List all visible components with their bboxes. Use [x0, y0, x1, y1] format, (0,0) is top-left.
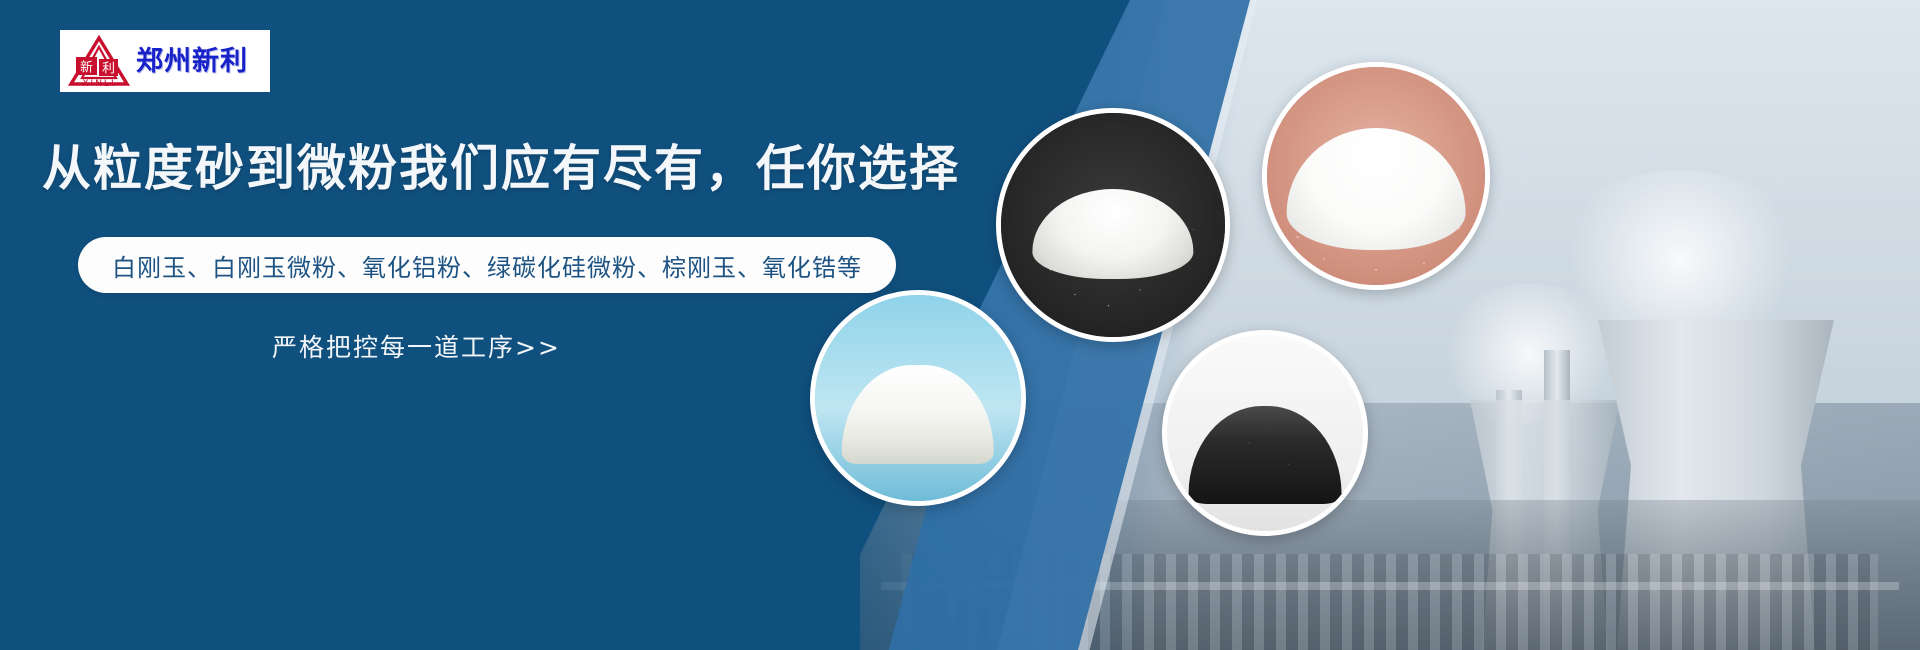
product-photo-black-silicon-carbide[interactable] [1162, 330, 1368, 536]
grit-specks [1167, 335, 1363, 531]
product-photo-alumina-micro-powder[interactable] [1262, 62, 1490, 290]
product-list-text: 白刚玉、白刚玉微粉、氧化铝粉、绿碳化硅微粉、棕刚玉、氧化锆等 [112, 248, 862, 283]
hero-banner: 新 利 XINLI 郑州新利 从粒度砂到微粉我们应有尽有，任你选择 白刚玉、白刚… [0, 0, 1920, 650]
powder-specks [1267, 67, 1485, 285]
powder-specks [1001, 113, 1225, 337]
process-tagline-link[interactable]: 严格把控每一道工序>> [272, 328, 561, 364]
svg-text:新: 新 [80, 60, 93, 76]
product-photo-white-fused-alumina[interactable] [996, 108, 1230, 342]
svg-text:XINLI: XINLI [82, 79, 115, 87]
logo-company-name: 郑州新利 [136, 48, 248, 75]
xinli-triangle-icon: 新 利 XINLI [68, 35, 130, 87]
product-list-pill[interactable]: 白刚玉、白刚玉微粉、氧化铝粉、绿碳化硅微粉、棕刚玉、氧化锆等 [78, 237, 896, 293]
headline-text: 从粒度砂到微粉我们应有尽有，任你选择 [42, 142, 960, 197]
product-photo-white-powder-heap[interactable] [810, 290, 1026, 506]
svg-text:利: 利 [102, 62, 115, 77]
company-logo[interactable]: 新 利 XINLI 郑州新利 [60, 30, 270, 92]
